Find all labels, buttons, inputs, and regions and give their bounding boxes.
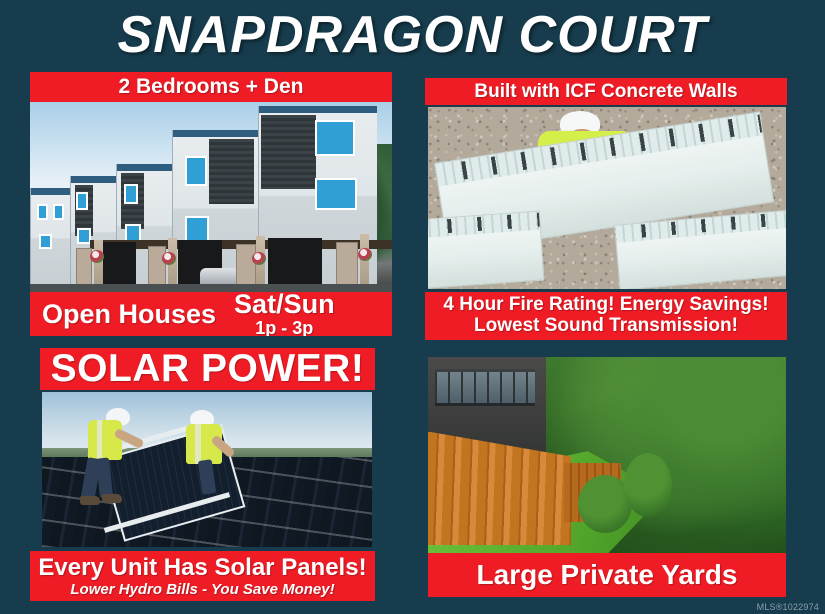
open-house-days: Sat/Sun [234, 292, 335, 318]
photo-townhouse [30, 102, 392, 292]
banner-private-yards: Large Private Yards [428, 553, 786, 597]
photo-private-yard [428, 357, 786, 553]
icf-benefit-line2: Lowest Sound Transmission! [474, 316, 738, 337]
every-unit-sublabel: Lower Hydro Bills - You Save Money! [70, 582, 334, 598]
banner-solar-power: SOLAR POWER! [40, 348, 375, 390]
banner-bedrooms: 2 Bedrooms + Den [30, 72, 392, 102]
open-house-schedule: Sat/Sun 1p - 3p [234, 292, 335, 336]
banner-icf-benefits: 4 Hour Fire Rating! Energy Savings! Lowe… [425, 292, 787, 340]
photo-solar-install [42, 392, 372, 547]
ground [30, 284, 392, 292]
banner-every-unit-solar: Every Unit Has Solar Panels! Lower Hydro… [30, 551, 375, 601]
real-estate-poster: SNAPDRAGON COURT 2 Bedrooms + Den [0, 0, 825, 614]
open-houses-label: Open Houses [42, 299, 216, 330]
photo-icf-construction [428, 107, 786, 289]
open-house-time: 1p - 3p [255, 319, 313, 336]
banner-bedrooms-label: 2 Bedrooms + Den [119, 75, 304, 99]
banner-icf-walls: Built with ICF Concrete Walls [425, 78, 787, 105]
private-yards-label: Large Private Yards [477, 559, 738, 591]
page-title: SNAPDRAGON COURT [0, 4, 825, 66]
balcony-railing [435, 369, 535, 406]
mls-watermark: MLS®1022974 [757, 602, 819, 612]
worker-right [174, 408, 236, 504]
icf-walls-label: Built with ICF Concrete Walls [474, 81, 737, 103]
every-unit-label: Every Unit Has Solar Panels! [38, 555, 366, 580]
worker-left [76, 404, 140, 514]
icf-benefit-line1: 4 Hour Fire Rating! Energy Savings! [443, 295, 768, 316]
banner-open-houses: Open Houses Sat/Sun 1p - 3p [30, 292, 392, 336]
shrub [624, 453, 672, 517]
icf-block-foreground [428, 211, 545, 289]
solar-power-label: SOLAR POWER! [51, 348, 365, 390]
